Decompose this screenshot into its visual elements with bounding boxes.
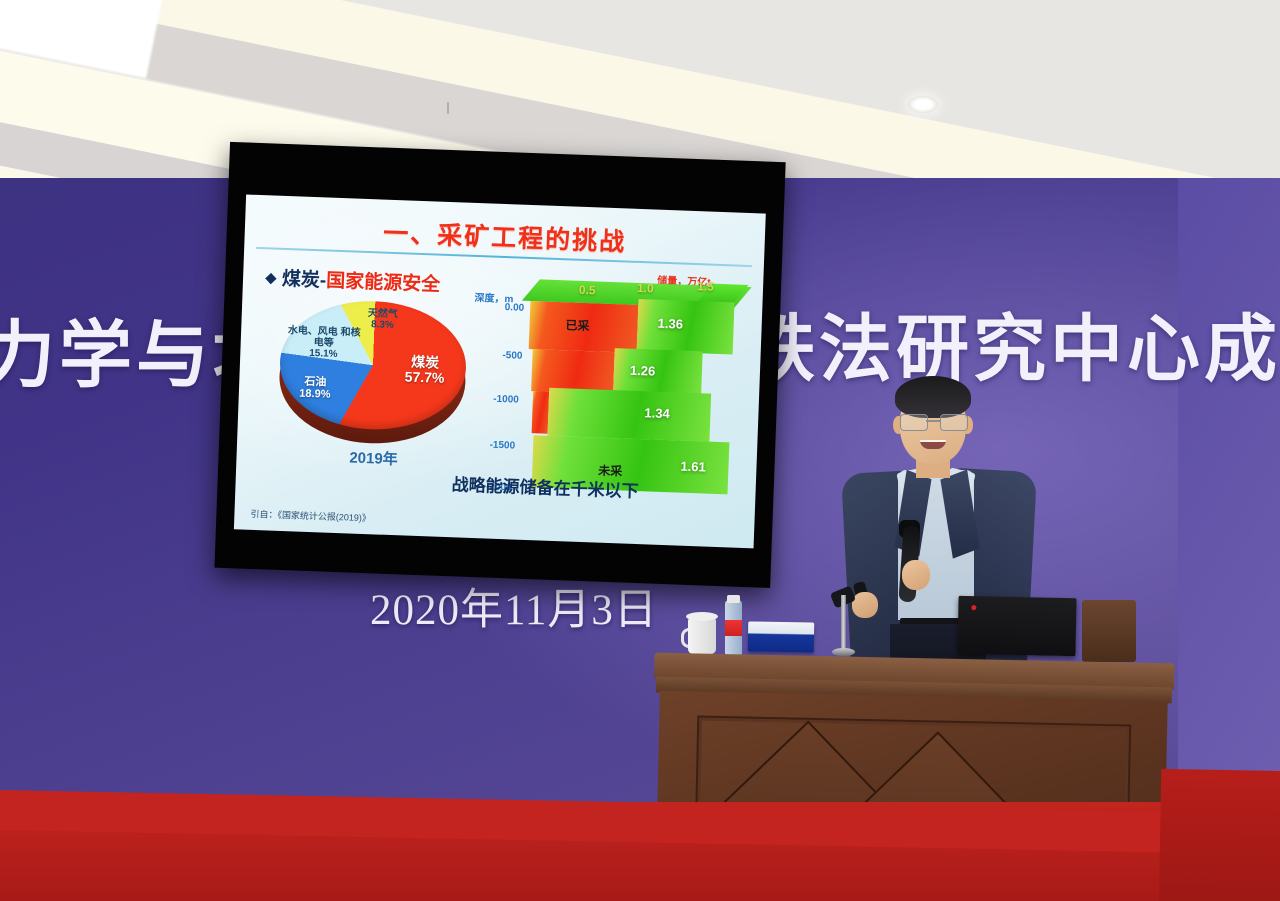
teacup-lid	[686, 612, 718, 621]
pie-label-coal-pct: 57.7%	[404, 369, 444, 386]
y-tick-1: -500	[480, 349, 522, 362]
downlight-icon	[908, 96, 938, 113]
y-tick-3: -1500	[473, 439, 515, 452]
pie-label-gas-pct: 8.3%	[371, 319, 394, 331]
nameplate	[748, 621, 815, 652]
side-wall	[1178, 178, 1280, 778]
pie-label-coal: 煤炭 57.7%	[387, 354, 462, 387]
chair	[1082, 600, 1136, 662]
water-bottle-label	[725, 620, 742, 636]
pie-label-oil-name: 石油	[304, 376, 326, 389]
carpet-right	[1159, 769, 1280, 901]
hand-holding-mic	[902, 560, 930, 590]
x-tick-2: 1.5	[697, 279, 714, 294]
bar-mined-band-3	[532, 391, 550, 434]
pie-surface: 煤炭 57.7% 石油 18.9% 水电、风电 和核电等 15.1% 天然气 8…	[278, 298, 469, 433]
x-tick-1: 1.0	[637, 281, 654, 296]
y-tick-2: -1000	[477, 393, 519, 406]
glasses-lens-right	[940, 414, 968, 431]
pie-label-hydro-pct: 15.1%	[309, 348, 338, 360]
presentation-slide: 一、采矿工程的挑战 ◆ 煤炭-国家能源安全 煤炭 57.7% 石油 18.	[234, 195, 766, 549]
pie-label-hydro: 水电、风电 和核电等 15.1%	[286, 326, 361, 361]
desk-mic-stand	[841, 595, 846, 653]
bar-band-3	[548, 388, 712, 442]
laptop[interactable]	[957, 596, 1076, 656]
bar-value-2: 1.26	[630, 363, 656, 379]
bar-value-4: 1.61	[680, 459, 706, 475]
bar-mined-band-2	[531, 349, 614, 394]
hair	[895, 376, 971, 418]
pie-label-gas: 天然气 8.3%	[357, 309, 408, 332]
bar-band-1	[637, 299, 735, 354]
glasses-bridge	[926, 420, 940, 422]
teacup	[688, 618, 716, 654]
pie-chart-year: 2019年	[308, 445, 439, 471]
ceiling-hook	[447, 102, 449, 114]
lecture-hall-photo: 力学与地下 铁法研究中心成立 2020年11月3日 一、采矿工程的挑战 ◆ 煤炭…	[0, 0, 1280, 901]
pie-label-hydro-name: 水电、风电 和核电等	[288, 325, 361, 348]
diamond-bullet-icon: ◆	[265, 268, 277, 286]
projection-screen[interactable]: 一、采矿工程的挑战 ◆ 煤炭-国家能源安全 煤炭 57.7% 石油 18.	[214, 142, 789, 592]
glasses-icon	[898, 414, 968, 429]
pie-label-oil: 石油 18.9%	[285, 376, 346, 402]
glasses-lens-left	[900, 414, 928, 431]
energy-mix-pie-chart: 煤炭 57.7% 石油 18.9% 水电、风电 和核电等 15.1% 天然气 8…	[257, 291, 486, 499]
bullet-text-dark: 煤炭-	[282, 269, 327, 292]
y-tick-0: 0.00	[482, 301, 524, 314]
bar-value-3: 1.34	[644, 405, 670, 421]
pie-label-oil-pct: 18.9%	[299, 387, 331, 400]
laptop-logo-icon	[971, 605, 976, 610]
water-bottle-cap	[727, 595, 740, 603]
bullet-text-red: 国家能源安全	[326, 271, 441, 296]
hand-left	[852, 592, 878, 618]
bar-value-1: 1.36	[657, 316, 683, 332]
desk-mic-base	[832, 648, 855, 656]
bar-mined-label: 已采	[565, 316, 590, 334]
x-tick-0: 0.5	[579, 283, 596, 298]
